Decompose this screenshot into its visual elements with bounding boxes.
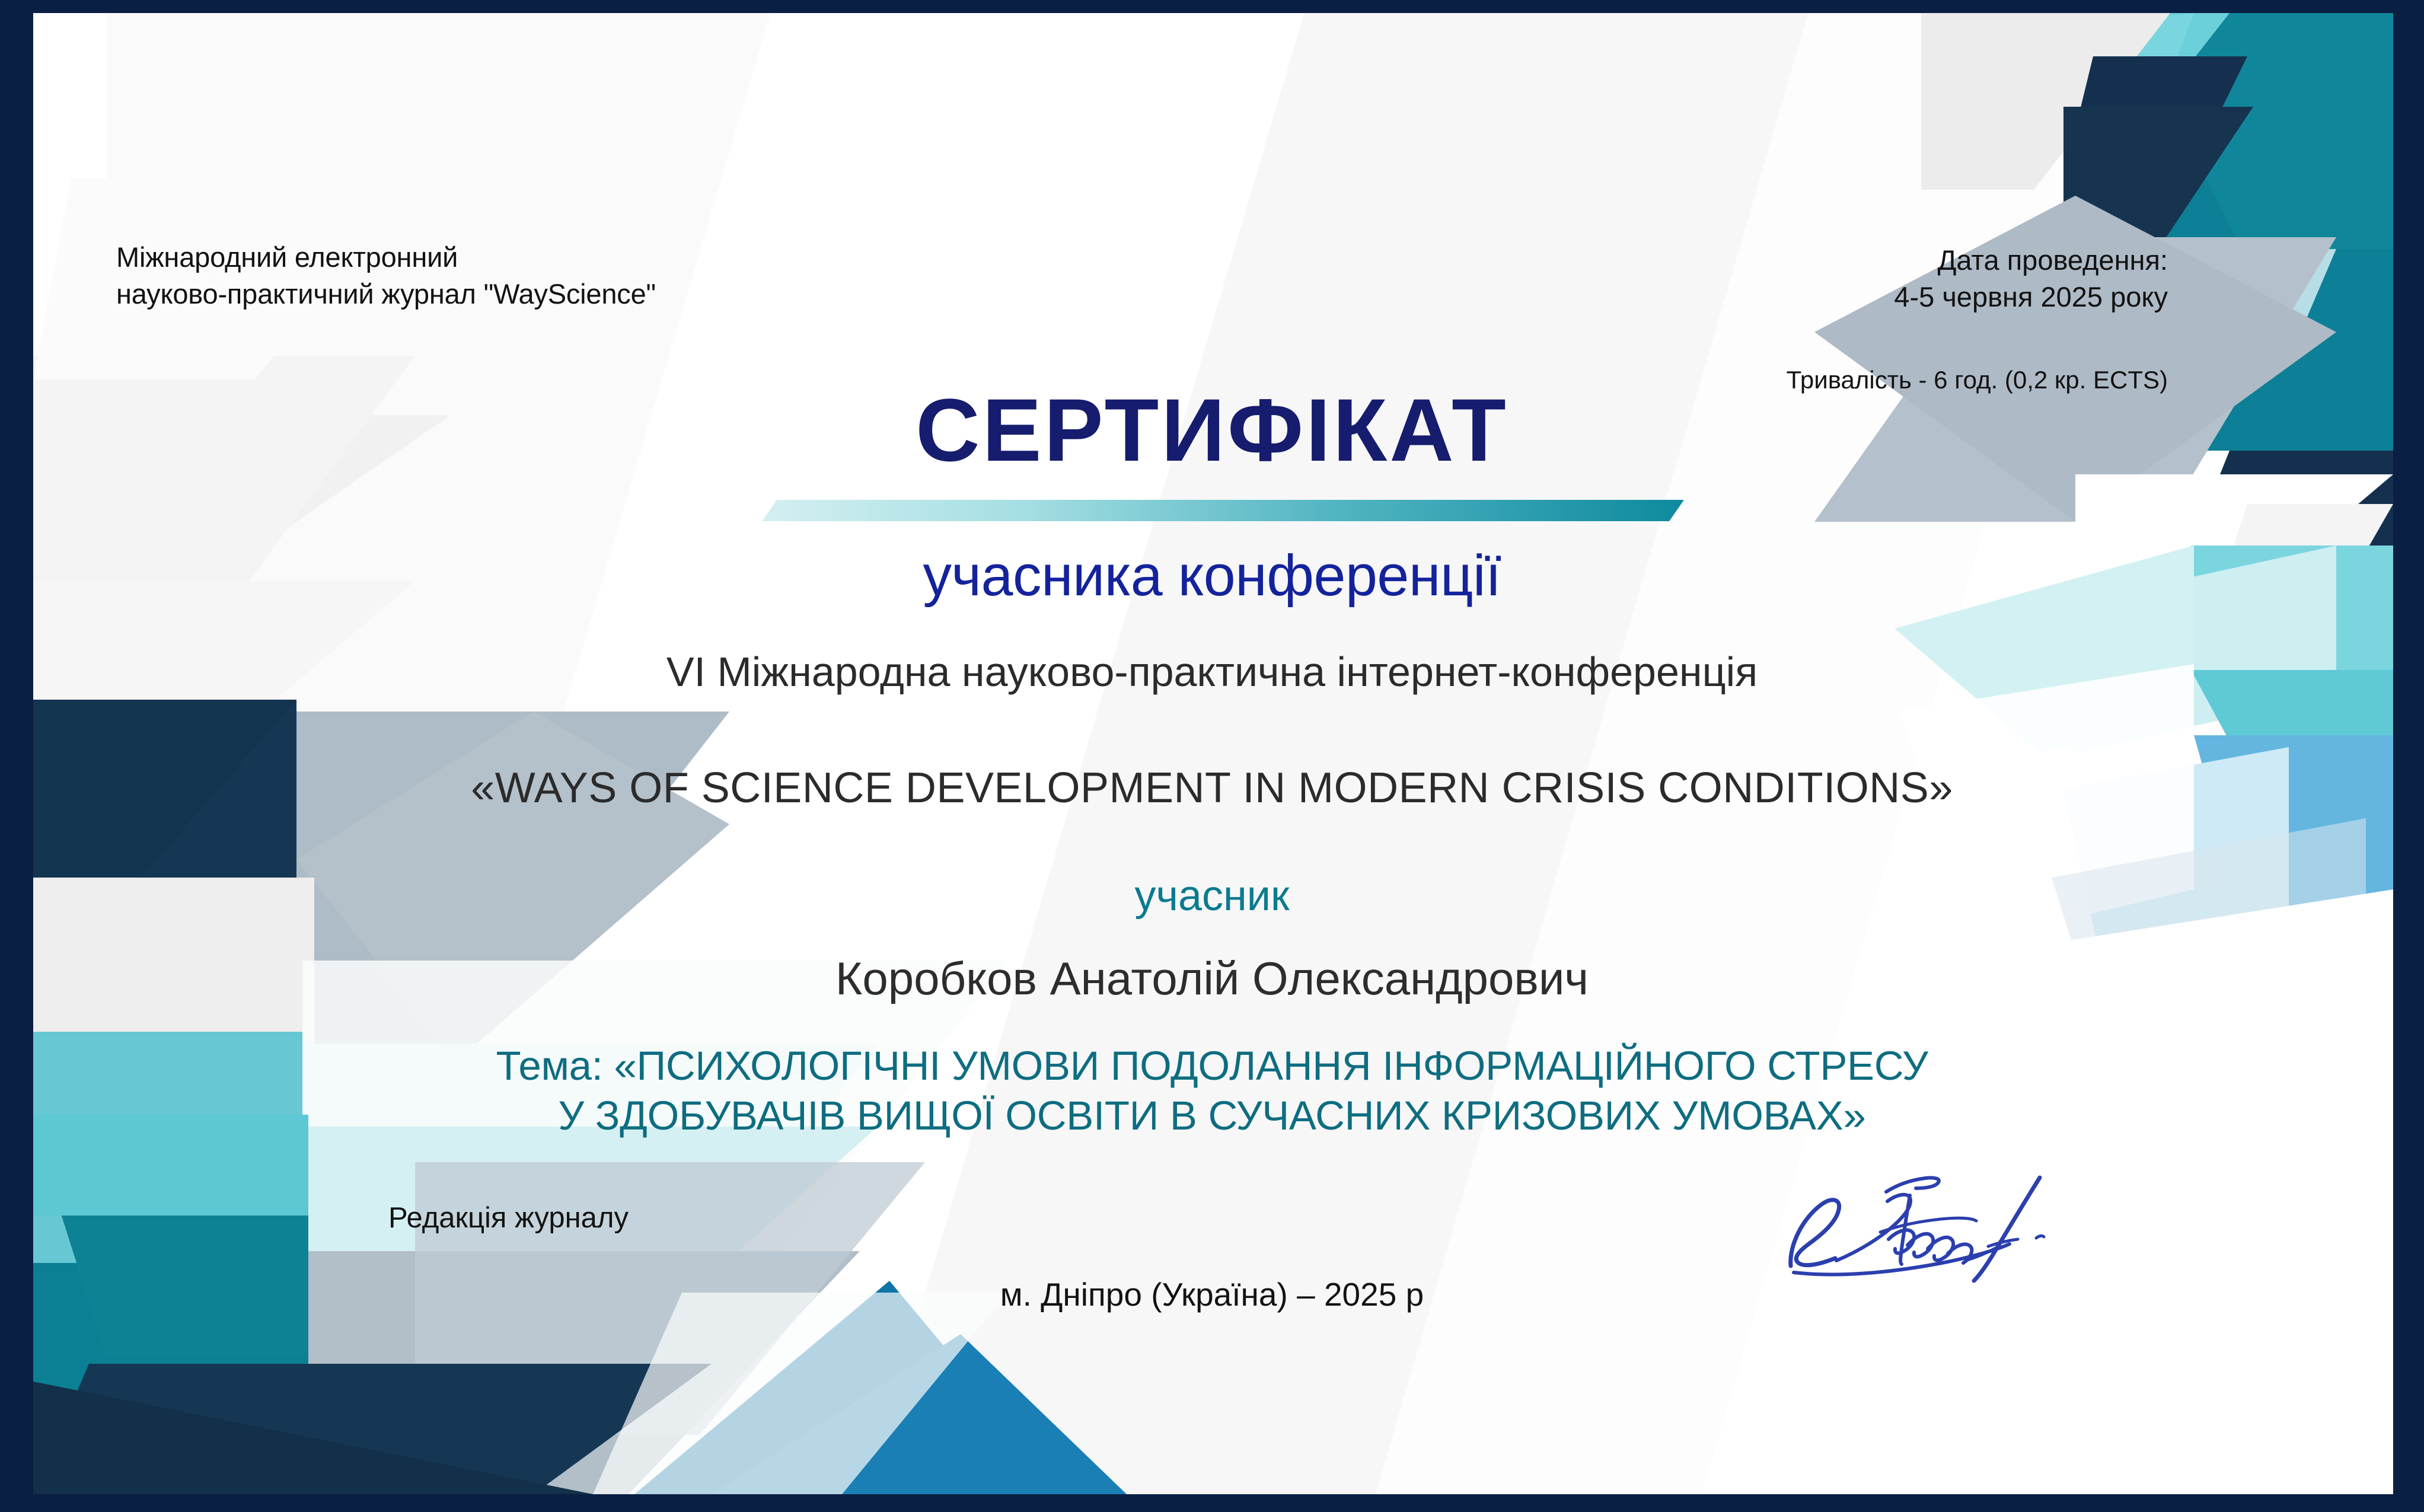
event-date: Дата проведення: 4-5 червня 2025 року	[1894, 242, 2168, 315]
editorial-label: Редакція журналу	[388, 1201, 629, 1235]
title-underline-bar	[762, 500, 1684, 521]
conference-line: VI Міжнародна науково-практична інтернет…	[0, 648, 2424, 696]
certificate: Міжнародний електронний науково-практичн…	[0, 0, 2424, 1512]
certificate-title-block: СЕРТИФІКАТ	[0, 385, 2424, 474]
certificate-subtitle: учасника конференції	[0, 543, 2424, 609]
presentation-topic: Тема: «ПСИХОЛОГІЧНІ УМОВИ ПОДОЛАННЯ ІНФО…	[178, 1041, 2246, 1141]
signature-icon	[1770, 1156, 2102, 1293]
role-label: учасник	[0, 872, 2424, 920]
journal-name: Міжнародний електронний науково-практичн…	[116, 239, 656, 312]
page-title: СЕРТИФІКАТ	[916, 385, 1508, 474]
certificate-content: Міжнародний електронний науково-практичн…	[0, 0, 2424, 1512]
conference-name: «WAYS OF SCIENCE DEVELOPMENT IN MODERN C…	[0, 764, 2424, 812]
signature-mark	[1770, 1156, 2102, 1293]
title-underline-gradient	[762, 500, 1684, 521]
participant-name: Коробков Анатолій Олександрович	[0, 952, 2424, 1006]
